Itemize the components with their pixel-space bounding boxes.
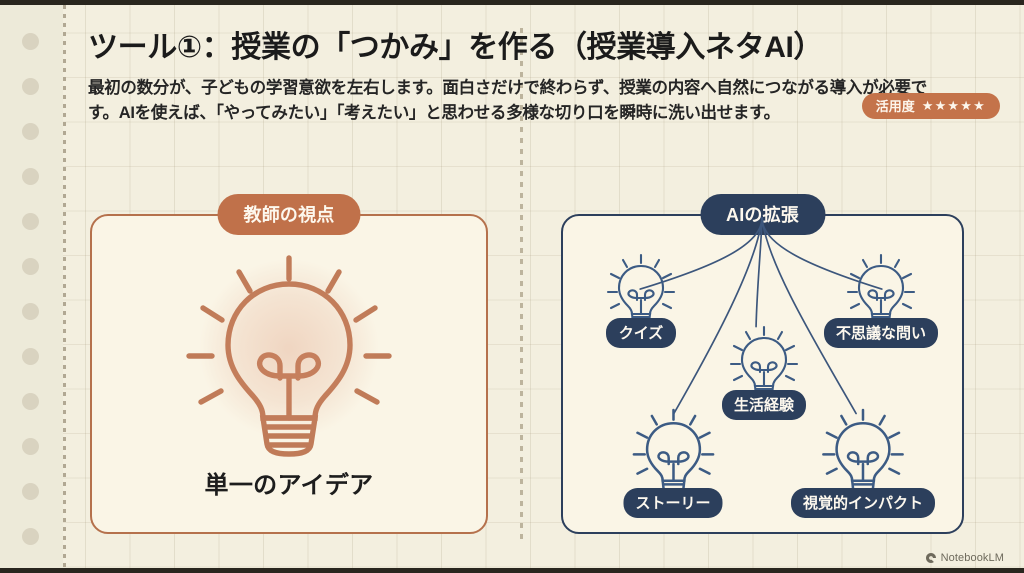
punch-hole (22, 168, 39, 185)
mindmap-node-label: クイズ (606, 318, 676, 348)
lightbulb-icon (729, 324, 799, 400)
page-edge-top (0, 0, 1024, 5)
mindmap-node-label: ストーリー (623, 488, 722, 518)
lead-paragraph: 最初の数分が、子どもの学習意欲を左右します。面白さだけで終わらず、授業の内容へ自… (88, 76, 956, 126)
page-title: ツール①：授業の「つかみ」を作る（授業導入ネタAI） (88, 30, 972, 65)
slide-canvas: ツール①：授業の「つかみ」を作る（授業導入ネタAI） 最初の数分が、子どもの学習… (0, 0, 1024, 573)
punch-hole (22, 483, 39, 500)
perforation-line (63, 5, 66, 568)
punch-hole (22, 348, 39, 365)
watermark-text: NotebookLM (941, 552, 1004, 564)
punch-hole (22, 303, 39, 320)
mindmap-node-visual-impact: 視覚的インパクト (791, 406, 935, 518)
lightbulb-icon (606, 252, 676, 328)
lightbulb-icon (631, 406, 715, 498)
mindmap-node-label: 不思議な問い (824, 318, 938, 348)
teacher-perspective-card: 教師の視点 (90, 214, 488, 534)
ai-expansion-card: AIの拡張 (561, 214, 964, 534)
single-idea-illustration (181, 246, 397, 460)
lightbulb-icon (821, 406, 905, 498)
lightbulb-icon (846, 252, 916, 328)
mindmap-node-quiz: クイズ (606, 252, 676, 348)
rating-label: 活用度 (876, 96, 915, 115)
mindmap-diagram: クイズ (563, 216, 962, 532)
heading-block: ツール①：授業の「つかみ」を作る（授業導入ネタAI） 最初の数分が、子どもの学習… (88, 30, 972, 127)
punch-hole (22, 213, 39, 230)
usefulness-rating-badge: 活用度 ★★★★★ (862, 93, 1000, 119)
bulb-glow (198, 258, 380, 440)
notebooklm-logo-icon (925, 552, 937, 564)
punch-hole (22, 438, 39, 455)
teacher-perspective-header-pill: 教師の視点 (218, 194, 361, 235)
mindmap-node-label: 視覚的インパクト (791, 488, 935, 518)
page-edge-bottom (0, 568, 1024, 573)
punch-hole (22, 78, 39, 95)
rating-stars: ★★★★★ (922, 98, 986, 114)
punch-hole (22, 258, 39, 275)
punch-hole (22, 393, 39, 410)
punch-hole (22, 33, 39, 50)
mindmap-node-story: ストーリー (623, 406, 722, 518)
mindmap-node-curious-question: 不思議な問い (824, 252, 938, 348)
single-idea-caption: 単一のアイデア (92, 465, 486, 500)
punch-hole (22, 528, 39, 545)
notebooklm-watermark: NotebookLM (925, 552, 1004, 564)
punch-hole (22, 123, 39, 140)
